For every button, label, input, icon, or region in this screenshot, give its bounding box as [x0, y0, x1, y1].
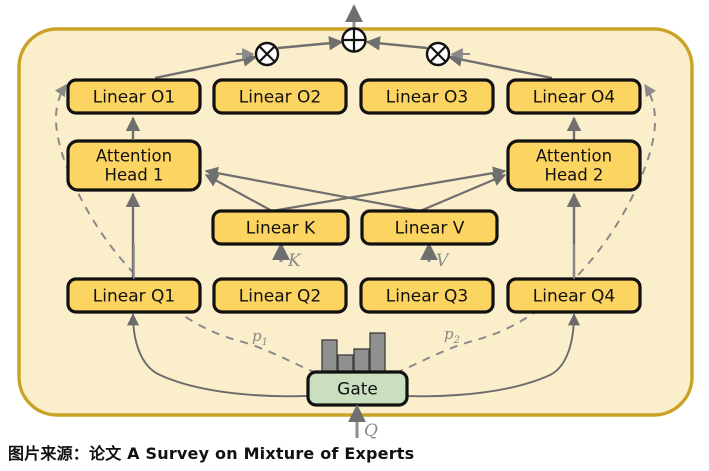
p2-symbol: p: [444, 325, 454, 343]
multiply-right-operator: [427, 43, 449, 65]
linear-o1-box[interactable]: Linear O1: [68, 80, 200, 113]
linear-o4-label: Linear O4: [533, 88, 615, 108]
gate-label: Gate: [337, 380, 378, 400]
linear-k-label: Linear K: [246, 219, 316, 239]
linear-q4-box[interactable]: Linear Q4: [508, 279, 640, 312]
attention-head-2-label-line2: Head 2: [545, 166, 604, 185]
linear-o2-label: Linear O2: [239, 88, 321, 108]
attention-head-1-label-line2: Head 1: [105, 166, 164, 185]
multiply-left-operator: [256, 43, 278, 65]
gate-input-label: Q: [364, 421, 378, 441]
attention-head-1-label-line1: Attention: [96, 147, 172, 166]
linear-o3-label: Linear O3: [386, 88, 468, 108]
k-input-label: K: [287, 251, 302, 271]
histogram-bar-3: [354, 349, 369, 372]
linear-q1-label: Linear Q1: [93, 287, 175, 307]
linear-k-box[interactable]: Linear K: [213, 211, 348, 244]
linear-o1-label: Linear O1: [93, 88, 175, 108]
p1-subscript: 1: [262, 337, 268, 348]
p2-subscript: 2: [453, 335, 460, 346]
linear-o4-box[interactable]: Linear O4: [508, 80, 640, 113]
attention-head-1-box[interactable]: Attention Head 1: [68, 141, 200, 190]
linear-o3-box[interactable]: Linear O3: [361, 80, 493, 113]
linear-q1-box[interactable]: Linear Q1: [68, 279, 200, 312]
linear-q3-box[interactable]: Linear Q3: [361, 279, 493, 312]
source-caption: 图片来源：论文 A Survey on Mixture of Experts: [8, 440, 414, 464]
gate-box[interactable]: Gate: [308, 372, 407, 405]
linear-o2-box[interactable]: Linear O2: [214, 80, 346, 113]
linear-v-box[interactable]: Linear V: [362, 211, 497, 244]
linear-v-label: Linear V: [395, 219, 465, 239]
linear-q2-label: Linear Q2: [239, 287, 321, 307]
moe-attention-diagram: Linear O1 Linear O2 Linear O3 Linear O4 …: [0, 0, 709, 471]
linear-q4-label: Linear Q4: [533, 287, 615, 307]
histogram-bar-4: [370, 333, 385, 372]
linear-q2-box[interactable]: Linear Q2: [214, 279, 346, 312]
add-operator: [343, 29, 366, 52]
v-input-label: V: [436, 251, 450, 271]
attention-head-2-label-line1: Attention: [536, 147, 612, 166]
histogram-bar-1: [322, 340, 337, 372]
histogram-bar-2: [338, 355, 353, 372]
p1-symbol: p: [252, 327, 262, 345]
figure-canvas: Linear O1 Linear O2 Linear O3 Linear O4 …: [0, 0, 709, 471]
attention-head-2-box[interactable]: Attention Head 2: [508, 141, 640, 190]
linear-q3-label: Linear Q3: [386, 287, 468, 307]
